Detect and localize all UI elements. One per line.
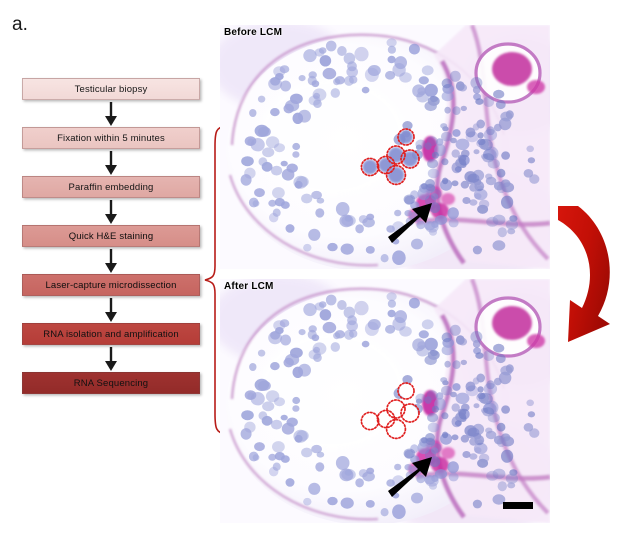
flow-step-0: Testicular biopsy (22, 78, 200, 100)
panel-letter: a. (12, 14, 28, 36)
micrograph-after-lcm: After LCM (220, 279, 550, 523)
flow-box-0[interactable]: Testicular biopsy (22, 78, 200, 100)
flow-box-1[interactable]: Fixation within 5 minutes (22, 127, 200, 149)
workflow-flowchart: Testicular biopsyFixation within 5 minut… (22, 78, 200, 394)
histology-image-after (220, 279, 550, 523)
flow-step-3: Quick H&E staining (22, 225, 200, 247)
flow-step-4: Laser-capture microdissection (22, 274, 200, 296)
micrograph-before-lcm: Before LCM (220, 25, 550, 269)
flow-step-2: Paraffin embedding (22, 176, 200, 198)
target-cell (363, 414, 378, 429)
scale-bar (503, 502, 533, 509)
flow-box-label-4: Laser-capture microdissection (45, 280, 176, 291)
flow-arrow-1 (22, 149, 200, 176)
flow-box-label-2: Paraffin embedding (69, 182, 154, 193)
lcm-transition-arrow (548, 196, 630, 356)
micrograph-label-after: After LCM (224, 281, 274, 292)
flow-arrow-0 (22, 100, 200, 127)
flow-step-6: RNA Sequencing (22, 372, 200, 394)
flow-box-label-3: Quick H&E staining (69, 231, 154, 242)
flow-arrow-4 (22, 296, 200, 323)
flow-box-label-1: Fixation within 5 minutes (57, 133, 165, 144)
micrograph-group: Before LCM (220, 25, 550, 523)
flow-step-5: RNA isolation and amplification (22, 323, 200, 345)
histology-image-before (220, 25, 550, 269)
target-cell (363, 160, 378, 175)
flow-box-2[interactable]: Paraffin embedding (22, 176, 200, 198)
flow-box-label-0: Testicular biopsy (75, 84, 148, 95)
target-cell (388, 421, 404, 437)
flow-box-5[interactable]: RNA isolation and amplification (22, 323, 200, 345)
flow-step-1: Fixation within 5 minutes (22, 127, 200, 149)
flow-box-label-5: RNA isolation and amplification (43, 329, 179, 340)
target-cell (388, 167, 404, 183)
target-cell (399, 130, 413, 144)
flow-box-4[interactable]: Laser-capture microdissection (22, 274, 200, 296)
flow-arrow-3 (22, 247, 200, 274)
flow-arrow-5 (22, 345, 200, 372)
target-cell (399, 384, 413, 398)
flow-box-label-6: RNA Sequencing (74, 378, 148, 389)
flow-box-6[interactable]: RNA Sequencing (22, 372, 200, 394)
flow-arrow-2 (22, 198, 200, 225)
micrograph-label-before: Before LCM (224, 27, 282, 38)
flow-box-3[interactable]: Quick H&E staining (22, 225, 200, 247)
